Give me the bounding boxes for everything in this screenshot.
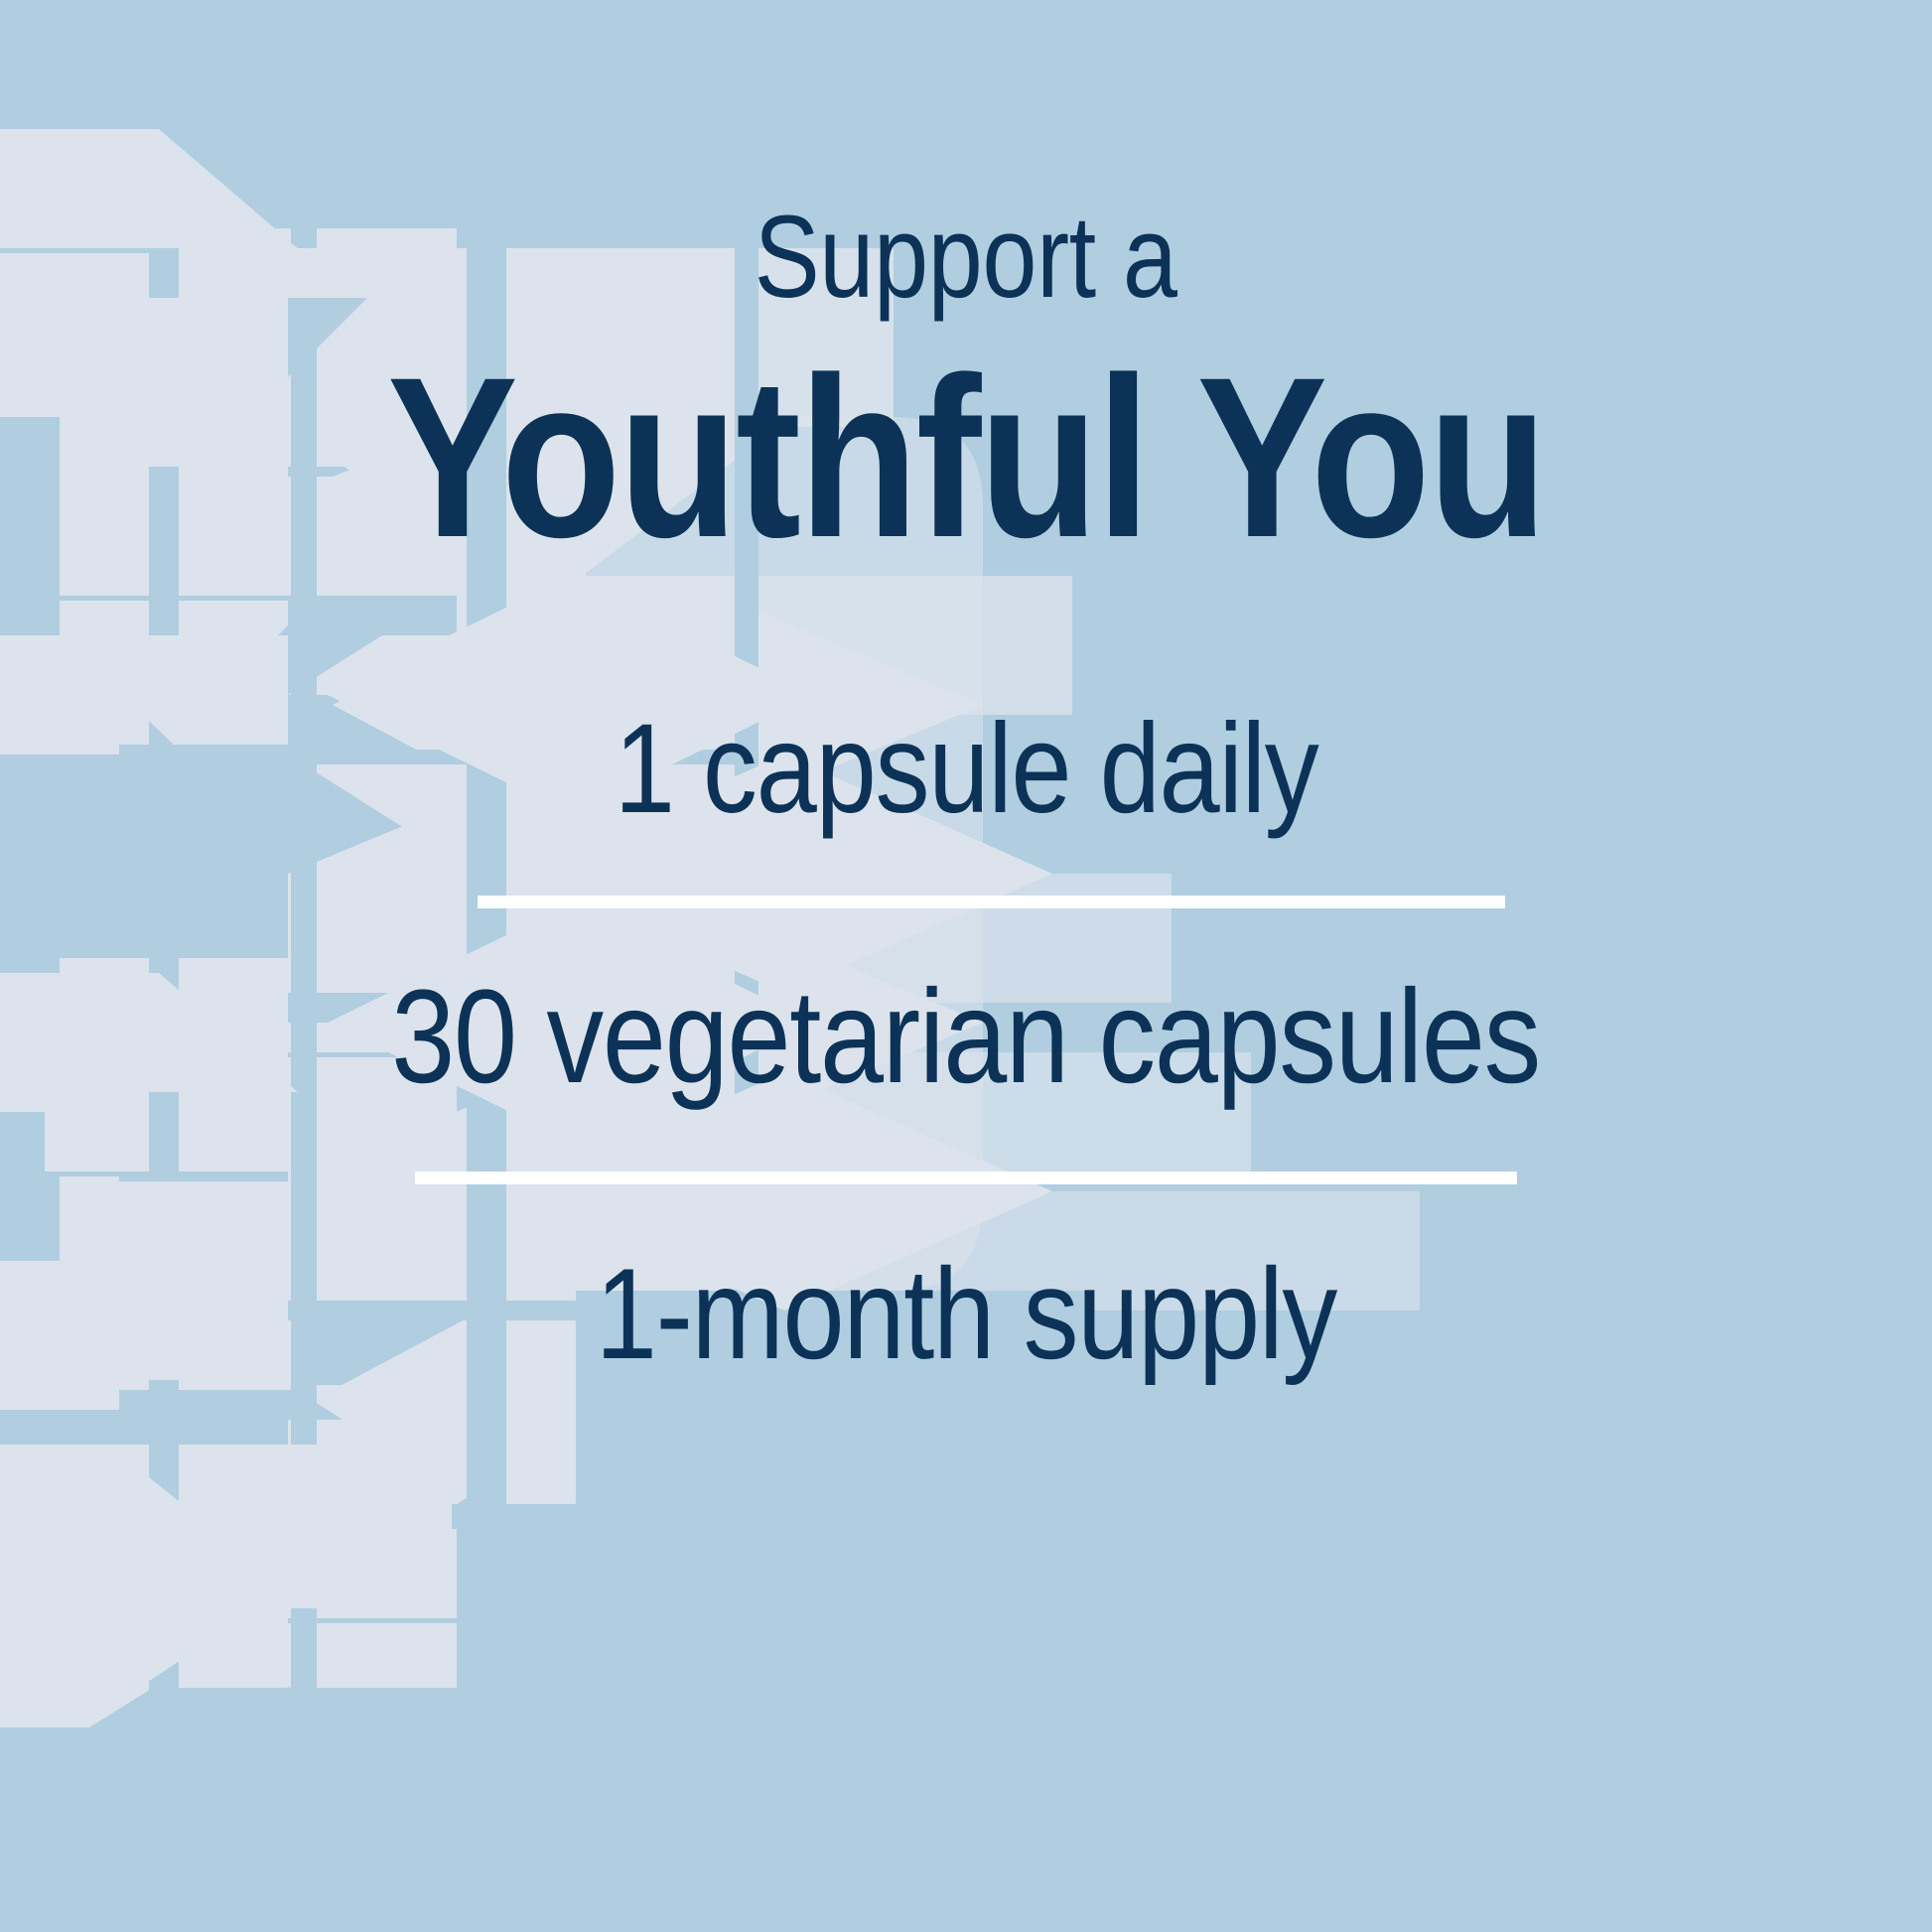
page-title: Youthful You xyxy=(387,344,1546,572)
spec-item-capsule-daily: 1 capsule daily xyxy=(615,701,1318,838)
spec-list: 1 capsule daily 30 vegetarian capsules 1… xyxy=(0,701,1932,1383)
divider-after-capsule-daily xyxy=(478,896,1505,908)
divider-after-vegetarian-capsules xyxy=(415,1172,1517,1184)
spec-item-vegetarian-capsules: 30 vegetarian capsules xyxy=(392,966,1541,1110)
card-content: Support a Youthful You 1 capsule daily 3… xyxy=(0,0,1932,1932)
eyebrow-text: Support a xyxy=(755,199,1177,316)
spec-item-month-supply: 1-month supply xyxy=(596,1244,1336,1383)
product-info-card: Support a Youthful You 1 capsule daily 3… xyxy=(0,0,1932,1932)
